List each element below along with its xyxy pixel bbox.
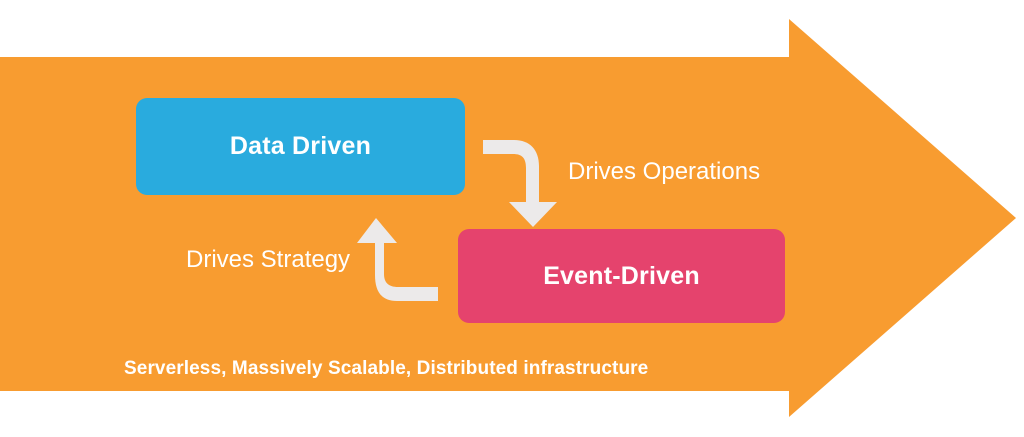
arrow-down-curved-path bbox=[483, 140, 557, 227]
arrow-drives-operations-icon bbox=[478, 130, 568, 230]
edge-label-drives-strategy: Drives Strategy bbox=[186, 248, 350, 272]
diagram-canvas: Data Driven Event-Driven Drives Operatio… bbox=[0, 0, 1024, 437]
footer-caption: Serverless, Massively Scalable, Distribu… bbox=[124, 359, 648, 378]
node-data-driven[interactable]: Data Driven bbox=[136, 98, 465, 195]
node-data-driven-label: Data Driven bbox=[230, 134, 371, 159]
node-event-driven-label: Event-Driven bbox=[543, 264, 700, 289]
edge-label-drives-operations: Drives Operations bbox=[568, 160, 760, 184]
arrow-drives-strategy-icon bbox=[352, 212, 452, 307]
arrow-up-curved-path bbox=[357, 218, 438, 301]
node-event-driven[interactable]: Event-Driven bbox=[458, 229, 785, 323]
